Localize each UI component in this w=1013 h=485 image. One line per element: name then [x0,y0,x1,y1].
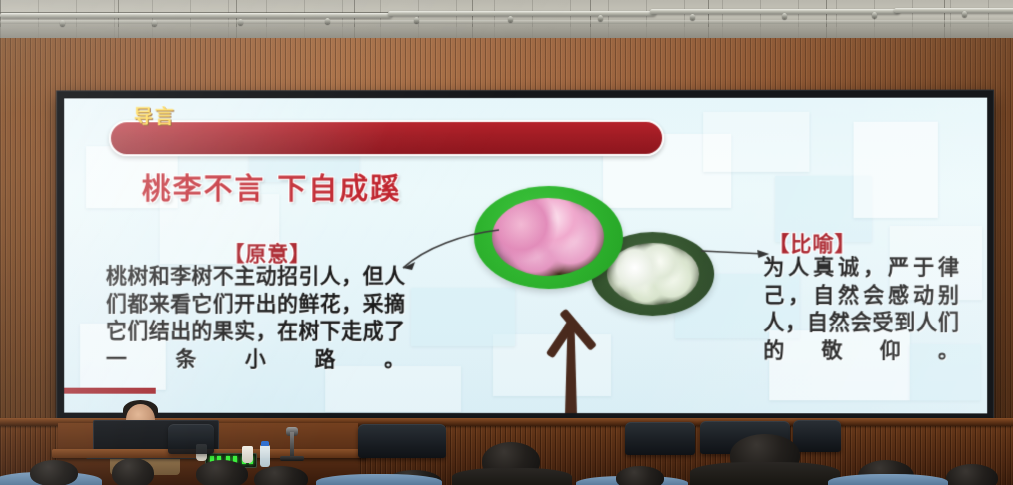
audience-member-shoulders [690,462,840,485]
ceiling-spotlight [782,13,787,19]
ceiling-spotlight [414,17,419,23]
slide-banner [109,120,664,156]
arrow-to-literal-meaning [393,224,503,278]
projection-screen-frame: 导言 桃李不言 下自成蹊 【原意】 [56,90,994,421]
audience-member-shoulders [452,468,572,485]
audience-member [946,464,998,485]
peach-blossom-photo [492,198,604,276]
slide-red-rule [64,388,156,394]
ceiling-spotlight [152,20,157,26]
slide-texture-scrap [703,112,809,172]
projection-screen-surface: 导言 桃李不言 下自成蹊 【原意】 [64,98,987,414]
ceiling-pipe [650,9,900,14]
ceiling-spotlight [508,16,513,22]
ceiling-spotlight [872,12,877,18]
audience-member-front [316,474,442,485]
ceiling-spotlight [598,15,603,21]
slide-texture-scrap [411,288,515,346]
ceiling-spotlight [238,19,243,25]
plum-blossom-photo [607,243,699,305]
ceiling-spotlight [325,18,330,24]
audience-member [254,466,308,485]
ceiling-spotlight [690,14,695,20]
audience-row [0,436,1013,485]
ceiling-spotlight [962,11,967,17]
ceiling-pipe [0,13,392,18]
ceiling-pipe [388,11,656,16]
ceiling-spotlight [60,20,65,26]
figurative-meaning-body: 为人真诚，严于律己，自然会感动别人，自然会受到人们的敬仰。 [763,254,959,365]
slide-texture-scrap [854,122,938,218]
screenshot-root: 导言 桃李不言 下自成蹊 【原意】 [0,0,1013,485]
literal-meaning-body: 桃树和李树不主动招引人，但人们都来看它们开出的鲜花，采摘它们结出的果实，在树下走… [106,263,405,374]
ceiling-pipe [894,8,1013,13]
audience-member [112,458,154,485]
slide-banner-label: 导言 [134,102,176,129]
audience-member [30,460,78,485]
audience-member-front [828,474,948,485]
audience-member [196,460,248,485]
slide-headline: 桃李不言 下自成蹊 [142,166,401,208]
audience-member [616,466,664,485]
